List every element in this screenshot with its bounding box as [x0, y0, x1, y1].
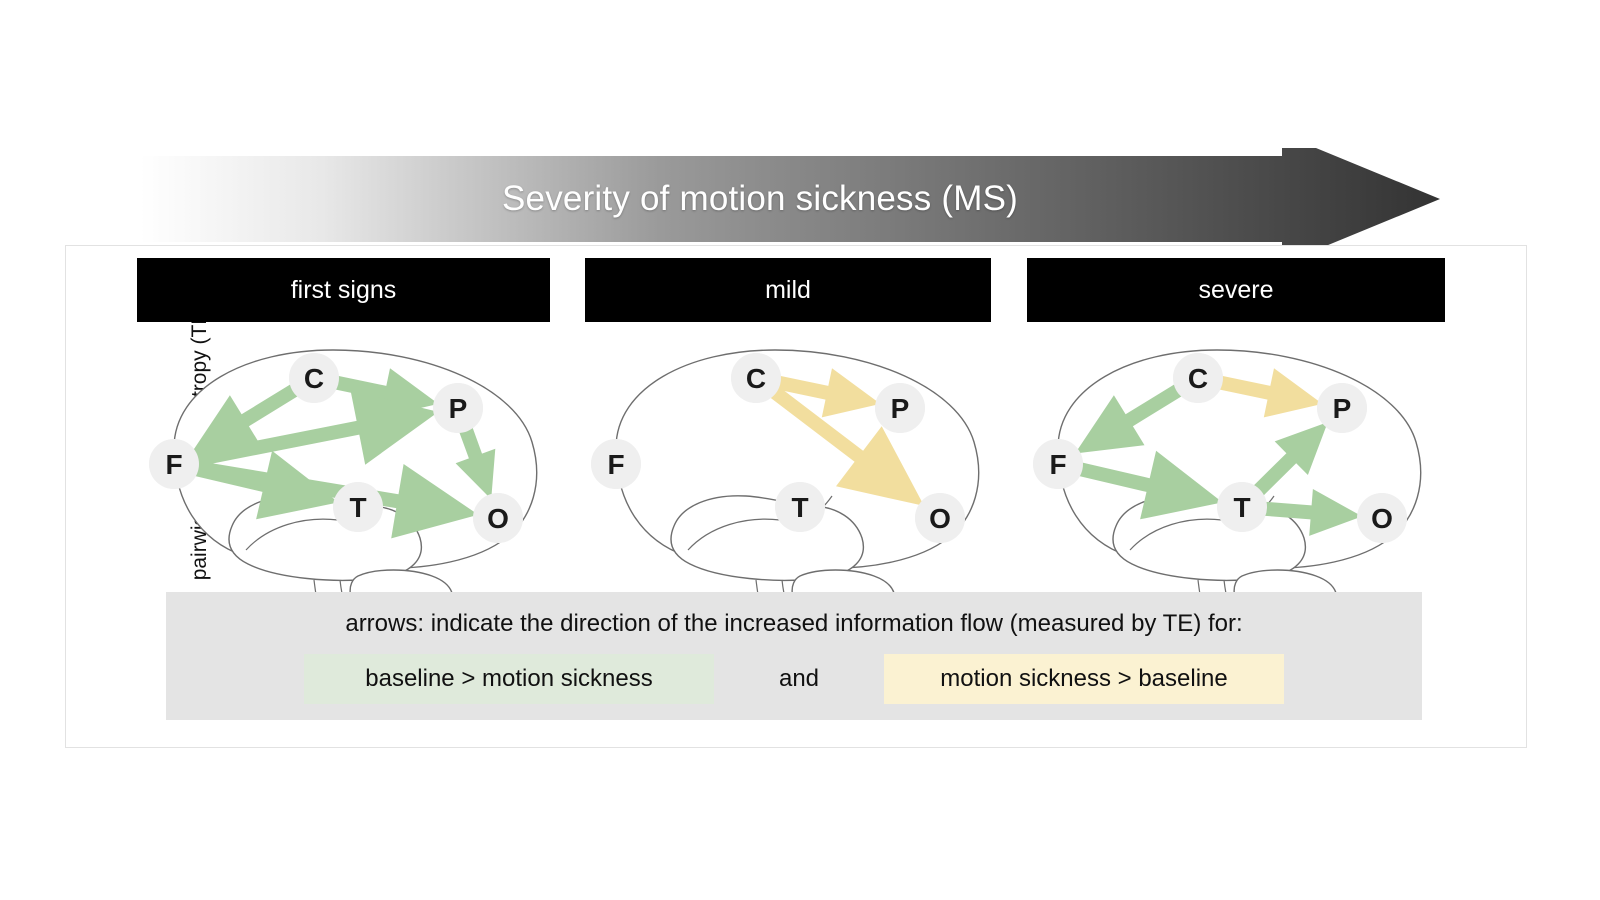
node-label-O: O [1371, 503, 1393, 534]
legend-conjunction: and [714, 665, 884, 693]
node-label-P: P [891, 393, 910, 424]
legend-chip-yellow: motion sickness > baseline [884, 654, 1284, 704]
brain-diagram-severe: CPFTO [1012, 330, 1452, 620]
node-label-F: F [607, 449, 624, 480]
brain-node-T: T [333, 482, 383, 532]
brain-node-P: P [875, 383, 925, 433]
node-label-F: F [1049, 449, 1066, 480]
brain-node-T: T [775, 482, 825, 532]
node-label-C: C [304, 363, 324, 394]
brain-node-F: F [591, 439, 641, 489]
brain-node-P: P [433, 383, 483, 433]
brain-node-C: C [289, 353, 339, 403]
figure-root: Severity of motion sickness (MS) pairwis… [0, 0, 1600, 900]
panel-header-first-signs: first signs [137, 258, 550, 322]
node-label-T: T [791, 492, 808, 523]
node-label-O: O [929, 503, 951, 534]
brain-diagram-first-signs: CPFTO [128, 330, 568, 620]
brain-node-C: C [1173, 353, 1223, 403]
brain-node-O: O [473, 493, 523, 543]
legend-strip: arrows: indicate the direction of the in… [166, 592, 1422, 720]
legend-chip-green: baseline > motion sickness [304, 654, 714, 704]
brain-diagram-mild: CPFTO [570, 330, 1010, 620]
severity-arrow [140, 148, 1440, 250]
panel-header-severe: severe [1027, 258, 1445, 322]
panel-header-label: first signs [291, 276, 397, 305]
node-label-T: T [1233, 492, 1250, 523]
node-label-P: P [449, 393, 468, 424]
brain-node-P: P [1317, 383, 1367, 433]
brain-node-C: C [731, 353, 781, 403]
node-label-C: C [1188, 363, 1208, 394]
brain-node-O: O [1357, 493, 1407, 543]
brain-node-F: F [1033, 439, 1083, 489]
node-label-O: O [487, 503, 509, 534]
legend-chip-row: baseline > motion sickness and motion si… [166, 654, 1422, 704]
node-label-T: T [349, 492, 366, 523]
panel-header-label: severe [1198, 276, 1273, 305]
severity-arrow-shape [140, 148, 1440, 250]
node-label-C: C [746, 363, 766, 394]
brain-node-T: T [1217, 482, 1267, 532]
brain-node-F: F [149, 439, 199, 489]
legend-description: arrows: indicate the direction of the in… [166, 610, 1422, 638]
brain-node-O: O [915, 493, 965, 543]
panel-header-label: mild [765, 276, 811, 305]
node-label-F: F [165, 449, 182, 480]
panel-header-mild: mild [585, 258, 991, 322]
node-label-P: P [1333, 393, 1352, 424]
